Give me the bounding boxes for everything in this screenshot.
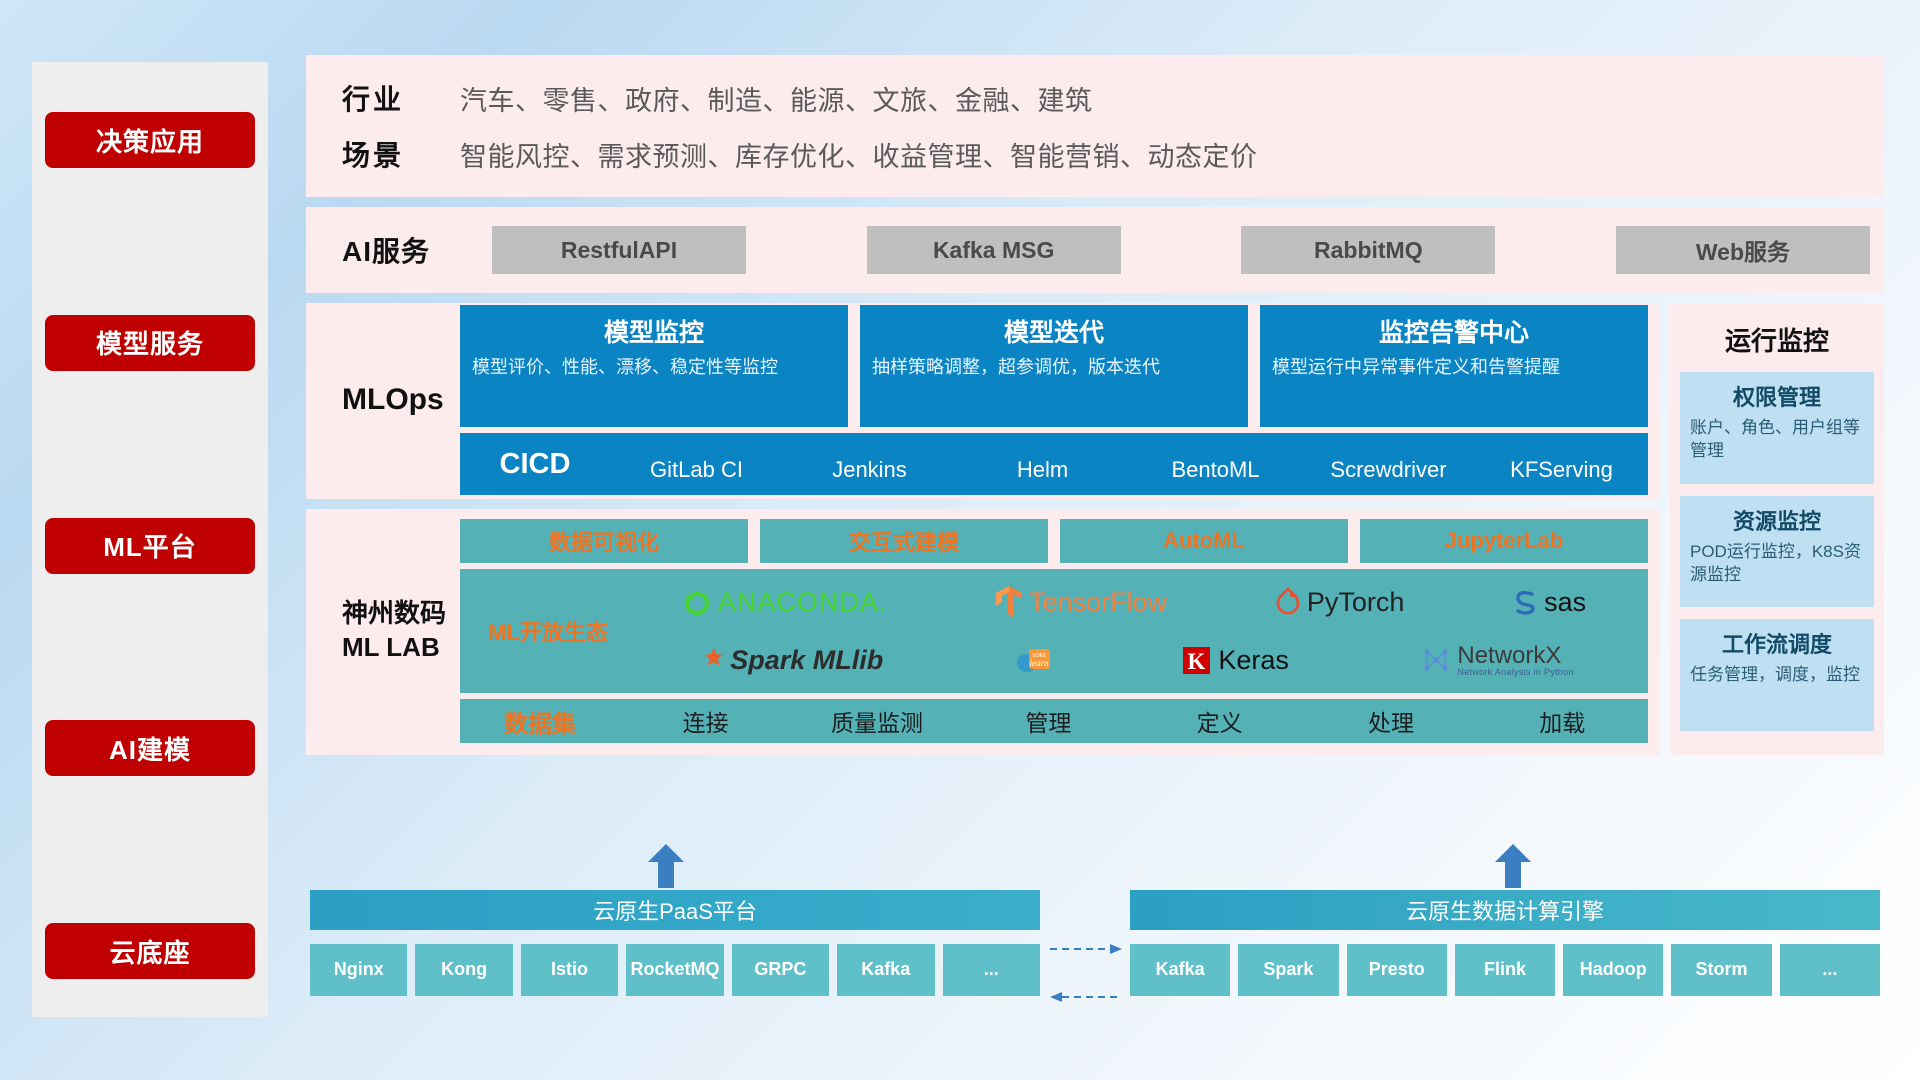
scikit-learn-logo: scikit learn: [1016, 645, 1050, 675]
cicd-item-helm[interactable]: Helm: [956, 456, 1129, 484]
cicd-row: CICD GitLab CI Jenkins Helm BentoML Scre…: [460, 433, 1648, 495]
card-title: 模型迭代: [872, 313, 1236, 349]
networkx-icon: [1421, 645, 1451, 675]
cicd-item-jenkins[interactable]: Jenkins: [783, 456, 956, 484]
pytorch-wordmark: PyTorch: [1307, 587, 1405, 618]
tensorflow-logo: TensorFlow: [995, 585, 1167, 619]
mlops-card-model-iteration[interactable]: 模型迭代 抽样策略调整，超参调优，版本迭代: [860, 305, 1248, 427]
sas-wordmark: sas: [1544, 587, 1586, 618]
tool-chip-data-visualization[interactable]: 数据可视化: [460, 519, 748, 563]
card-desc: 任务管理，调度，监控: [1690, 664, 1864, 687]
compute-chip-storm[interactable]: Storm: [1671, 944, 1771, 996]
rail-item-cloud-base[interactable]: 云底座: [45, 923, 255, 979]
service-chip-rabbitmq[interactable]: RabbitMQ: [1241, 226, 1495, 274]
card-desc: 模型运行中异常事件定义和告警提醒: [1272, 355, 1636, 379]
compute-chip-more[interactable]: ...: [1780, 944, 1880, 996]
dataset-item-quality-monitoring[interactable]: 质量监测: [791, 704, 962, 738]
arrow-up-paas-icon: [646, 844, 686, 888]
card-desc: 模型评价、性能、漂移、稳定性等监控: [472, 355, 836, 379]
modeling-tool-chip-list: 数据可视化 交互式建模 AutoML JupyterLab: [460, 519, 1648, 563]
compute-chip-kafka[interactable]: Kafka: [1130, 944, 1230, 996]
mlops-card-list: 模型监控 模型评价、性能、漂移、稳定性等监控 模型迭代 抽样策略调整，超参调优，…: [460, 305, 1648, 427]
platform-left-column: MLOps 模型监控 模型评价、性能、漂移、稳定性等监控 模型迭代 抽样策略调整…: [306, 303, 1660, 765]
ai-modeling-band: 神州数码 ML LAB 数据可视化 交互式建模 AutoML JupyterLa…: [306, 509, 1660, 755]
mlops-card-model-monitoring[interactable]: 模型监控 模型评价、性能、漂移、稳定性等监控: [460, 305, 848, 427]
mlops-card-alert-center[interactable]: 监控告警中心 模型运行中异常事件定义和告警提醒: [1260, 305, 1648, 427]
scikit-learn-icon: scikit learn: [1016, 645, 1050, 675]
cicd-item-gitlab-ci[interactable]: GitLab CI: [610, 456, 783, 484]
pytorch-logo: PyTorch: [1275, 587, 1405, 618]
card-title: 工作流调度: [1690, 627, 1864, 659]
card-desc: 抽样策略调整，超参调优，版本迭代: [872, 355, 1236, 379]
spark-icon: [694, 645, 724, 675]
paas-chip-istio[interactable]: Istio: [521, 944, 618, 996]
compute-chip-presto[interactable]: Presto: [1347, 944, 1447, 996]
sas-icon: [1512, 588, 1538, 616]
card-desc: POD运行监控，K8S资源监控: [1690, 541, 1864, 587]
arrow-right-dashed-icon: [1050, 942, 1122, 944]
mlops-content: 模型监控 模型评价、性能、漂移、稳定性等监控 模型迭代 抽样策略调整，超参调优，…: [460, 305, 1648, 495]
card-title: 模型监控: [472, 313, 836, 349]
scenario-list: 智能风控、需求预测、库存优化、收益管理、智能营销、动态定价: [460, 135, 1258, 174]
tool-chip-interactive-modeling[interactable]: 交互式建模: [760, 519, 1048, 563]
ai-service-label: AI服务: [342, 230, 460, 270]
svg-text:learn: learn: [1029, 658, 1048, 668]
ai-service-band: AI服务 RestfulAPI Kafka MSG RabbitMQ Web服务: [306, 207, 1884, 293]
paas-chip-nginx[interactable]: Nginx: [310, 944, 407, 996]
modeling-content: 数据可视化 交互式建模 AutoML JupyterLab ML开放生态: [460, 519, 1648, 743]
ecosystem-logo-row-2: Spark MLlib scikit learn: [628, 632, 1640, 688]
keras-logo: K Keras: [1182, 645, 1289, 676]
architecture-main-column: 行业 汽车、零售、政府、制造、能源、文旅、金融、建筑 场景 智能风控、需求预测、…: [306, 55, 1884, 765]
rail-item-model-service[interactable]: 模型服务: [45, 315, 255, 371]
tool-chip-jupyterlab[interactable]: JupyterLab: [1360, 519, 1648, 563]
spark-wordmark: Spark MLlib: [730, 645, 883, 676]
dataset-item-management[interactable]: 管理: [963, 704, 1134, 738]
monitor-card-permission[interactable]: 权限管理 账户、角色、用户组等管理: [1680, 372, 1874, 484]
dataset-item-list: 连接 质量监测 管理 定义 处理 加载: [620, 704, 1648, 738]
service-chip-web-service[interactable]: Web服务: [1616, 226, 1870, 274]
networkx-logo: NetworkX Network Analysis in Python: [1421, 644, 1573, 677]
left-stage-rail: 决策应用 模型服务 ML平台 AI建模 云底座: [32, 62, 268, 1017]
cicd-item-list: GitLab CI Jenkins Helm BentoML Screwdriv…: [610, 444, 1648, 484]
ml-lab-label-line2: ML LAB: [342, 631, 446, 665]
paas-chip-grpc[interactable]: GRPC: [732, 944, 829, 996]
cicd-title: CICD: [460, 448, 610, 481]
industry-row: 行业 汽车、零售、政府、制造、能源、文旅、金融、建筑: [342, 70, 1884, 126]
cloud-paas-header: 云原生PaaS平台: [310, 890, 1040, 930]
ml-open-ecosystem-row: ML开放生态 ANACONDA.: [460, 569, 1648, 693]
anaconda-logo: ANACONDA.: [682, 587, 888, 618]
spark-mllib-logo: Spark MLlib: [694, 645, 883, 676]
service-chip-kafka-msg[interactable]: Kafka MSG: [867, 226, 1121, 274]
mlops-label: MLOps: [342, 383, 460, 417]
cicd-item-kfserving[interactable]: KFServing: [1475, 456, 1648, 484]
industry-scenario-band: 行业 汽车、零售、政府、制造、能源、文旅、金融、建筑 场景 智能风控、需求预测、…: [306, 55, 1884, 197]
tensorflow-icon: [995, 585, 1023, 619]
card-title: 监控告警中心: [1272, 313, 1636, 349]
card-title: 权限管理: [1690, 380, 1864, 412]
service-chip-restfulapi[interactable]: RestfulAPI: [492, 226, 746, 274]
cloud-compute-chip-list: Kafka Spark Presto Flink Hadoop Storm ..…: [1130, 944, 1880, 996]
ml-open-ecosystem-label: ML开放生态: [468, 615, 628, 647]
rail-item-ai-modeling[interactable]: AI建模: [45, 720, 255, 776]
industry-list: 汽车、零售、政府、制造、能源、文旅、金融、建筑: [460, 79, 1093, 118]
rail-item-ml-platform[interactable]: ML平台: [45, 518, 255, 574]
cloud-paas-group: 云原生PaaS平台 Nginx Kong Istio RocketMQ GRPC…: [310, 890, 1040, 996]
dataset-title: 数据集: [460, 704, 620, 739]
keras-icon: K: [1182, 645, 1212, 675]
mlops-band: MLOps 模型监控 模型评价、性能、漂移、稳定性等监控 模型迭代 抽样策略调整…: [306, 303, 1660, 499]
monitor-card-resource[interactable]: 资源监控 POD运行监控，K8S资源监控: [1680, 496, 1874, 608]
paas-chip-kafka[interactable]: Kafka: [837, 944, 934, 996]
anaconda-icon: [682, 587, 712, 617]
cicd-item-bentoml[interactable]: BentoML: [1129, 456, 1302, 484]
industry-label: 行业: [342, 78, 460, 118]
anaconda-wordmark: ANACONDA.: [718, 587, 888, 618]
paas-chip-kong[interactable]: Kong: [415, 944, 512, 996]
svg-text:K: K: [1188, 649, 1206, 674]
cloud-foundation-area: 云原生PaaS平台 Nginx Kong Istio RocketMQ GRPC…: [306, 890, 1884, 1035]
card-title: 资源监控: [1690, 504, 1864, 536]
keras-wordmark: Keras: [1218, 645, 1289, 676]
ecosystem-logo-grid: ANACONDA. TensorFlow: [628, 574, 1640, 688]
ml-lab-label: 神州数码 ML LAB: [342, 519, 460, 743]
card-desc: 账户、角色、用户组等管理: [1690, 417, 1864, 463]
tensorflow-wordmark: TensorFlow: [1029, 587, 1167, 618]
cloud-compute-header: 云原生数据计算引擎: [1130, 890, 1880, 930]
monitor-card-workflow[interactable]: 工作流调度 任务管理，调度，监控: [1680, 619, 1874, 731]
dataset-item-processing[interactable]: 处理: [1305, 704, 1476, 738]
dataset-item-loading[interactable]: 加载: [1477, 704, 1648, 738]
sas-logo: sas: [1512, 587, 1586, 618]
scenario-label: 场景: [342, 134, 460, 174]
dataset-item-definition[interactable]: 定义: [1134, 704, 1305, 738]
arrow-left-dashed-icon: [1050, 990, 1122, 992]
runtime-monitor-column: 运行监控 权限管理 账户、角色、用户组等管理 资源监控 POD运行监控，K8S资…: [1670, 303, 1884, 765]
cloud-paas-chip-list: Nginx Kong Istio RocketMQ GRPC Kafka ...: [310, 944, 1040, 996]
networkx-tagline: Network Analysis in Python: [1457, 668, 1573, 677]
pytorch-icon: [1275, 587, 1301, 617]
networkx-wordmark: NetworkX: [1457, 644, 1573, 668]
arrow-up-compute-icon: [1493, 844, 1533, 888]
tool-chip-automl[interactable]: AutoML: [1060, 519, 1348, 563]
cloud-compute-group: 云原生数据计算引擎 Kafka Spark Presto Flink Hadoo…: [1130, 890, 1880, 996]
ml-lab-label-line1: 神州数码: [342, 597, 446, 631]
rail-item-decision-app[interactable]: 决策应用: [45, 112, 255, 168]
scenario-row: 场景 智能风控、需求预测、库存优化、收益管理、智能营销、动态定价: [342, 126, 1884, 182]
dataset-item-connect[interactable]: 连接: [620, 704, 791, 738]
ai-service-chip-list: RestfulAPI Kafka MSG RabbitMQ Web服务: [460, 226, 1884, 274]
paas-chip-rocketmq[interactable]: RocketMQ: [626, 944, 723, 996]
cicd-item-screwdriver[interactable]: Screwdriver: [1302, 456, 1475, 484]
ecosystem-logo-row-1: ANACONDA. TensorFlow: [628, 574, 1640, 630]
compute-chip-flink[interactable]: Flink: [1455, 944, 1555, 996]
dataset-row: 数据集 连接 质量监测 管理 定义 处理 加载: [460, 699, 1648, 743]
platform-and-monitor-wrapper: MLOps 模型监控 模型评价、性能、漂移、稳定性等监控 模型迭代 抽样策略调整…: [306, 303, 1884, 765]
runtime-monitor-title: 运行监控: [1680, 321, 1874, 358]
paas-chip-more[interactable]: ...: [943, 944, 1040, 996]
compute-chip-hadoop[interactable]: Hadoop: [1563, 944, 1663, 996]
runtime-monitor-band: 运行监控 权限管理 账户、角色、用户组等管理 资源监控 POD运行监控，K8S资…: [1670, 303, 1884, 755]
compute-chip-spark[interactable]: Spark: [1238, 944, 1338, 996]
